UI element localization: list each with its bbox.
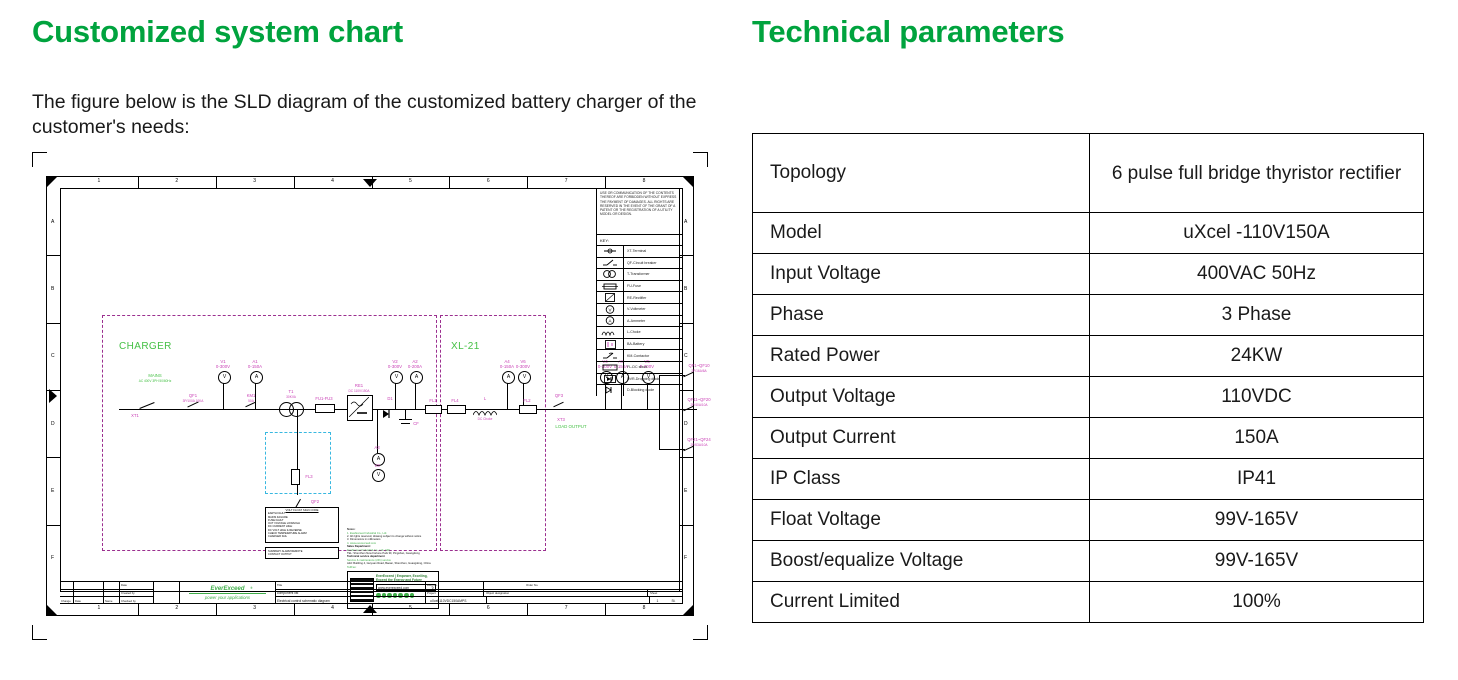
ammeter-icon: A [597, 316, 624, 327]
param-value: 400VAC 50Hz [1090, 254, 1424, 295]
sheet-current: 1 [657, 599, 659, 603]
param-name: Rated Power [753, 336, 1090, 377]
table-row: IP Class IP41 [753, 459, 1424, 500]
page-title-customized-system-chart: Customized system chart [32, 14, 403, 50]
tb-sign-col [154, 582, 180, 604]
device-label-qf-group2: QF11~QF20 [687, 397, 710, 402]
param-name: Float Voltage [753, 500, 1090, 541]
device-desc-qf-group1: 2P/16A/6A [691, 369, 706, 374]
column-number: 7 [565, 605, 568, 611]
tb-value-object-designation [487, 597, 650, 604]
corner-marker-bottom-right [683, 605, 693, 615]
param-value: 24KW [1090, 336, 1424, 377]
tb-label-sheet: Sheet [648, 591, 682, 595]
tb-label-object-designation: Object designation [484, 590, 648, 597]
row-letter: C [51, 353, 55, 359]
fl3-shunt [291, 469, 300, 485]
device-label-qf3: QF3 [555, 393, 563, 398]
legend-text: V-Voltmeter [624, 307, 646, 311]
device-label-fl2: FL2 [523, 398, 530, 403]
row-letter: D [51, 421, 55, 427]
table-row: Phase 3 Phase [753, 295, 1424, 336]
column-number: 7 [565, 178, 568, 184]
param-value: IP41 [1090, 459, 1424, 500]
device-label-qf2: QF2 [311, 499, 319, 504]
column-tick [294, 604, 295, 615]
sld-schematic-drawing: 12345678 12345678 ABCDEF ABCDEF CHARGER … [32, 152, 708, 640]
param-value: 110VDC [1090, 377, 1424, 418]
v1-lead [223, 381, 224, 409]
cf-lead [405, 409, 406, 419]
corner-marker-bottom-left [47, 605, 57, 615]
legend-text: FL-DC shunt [624, 365, 647, 369]
qf-group3-wire [659, 449, 685, 450]
tb-value-sheet: 1 St. [650, 599, 682, 603]
legend-text: L-Choke [624, 330, 641, 334]
meter-desc-v2: 0-300V [388, 364, 402, 369]
tb-project-col: Dwg No. Order No. Project Object designa… [426, 582, 683, 604]
legend-key-panel: KEY: XT-Terminal QF-Circuit breaker T-Tr… [596, 235, 683, 396]
re1-diagonal [349, 397, 369, 417]
tb-blank [104, 590, 119, 598]
column-tick [372, 177, 373, 188]
column-tick [449, 177, 450, 188]
crop-mark-top-left [32, 152, 47, 167]
legend-row: A A-Ammeter [597, 316, 683, 328]
tb-project-value-row: uXcel-110VDC150AMPS 1 St. [426, 597, 682, 604]
summary-alarm-output-box: SUMMARY ALARM REMOTE CONTACT OUTPUT [265, 547, 339, 559]
param-name: Current Limited [753, 582, 1090, 623]
svg-text:A: A [608, 319, 611, 324]
tb-revision-col: Change [60, 582, 74, 604]
device-desc-qf-group3: 2P/63A/10A [690, 443, 707, 448]
column-number: 2 [175, 605, 178, 611]
column-number: 6 [487, 605, 490, 611]
device-label-xt3: XT3 [557, 417, 565, 422]
column-number: 1 [98, 178, 101, 184]
tb-createdby-col: Date Created by Checked by [120, 582, 154, 604]
tb-label-order-no: Order No. [484, 583, 682, 587]
param-value: 99V-165V [1090, 541, 1424, 582]
device-desc-l: DC Choke [478, 417, 493, 422]
meter-desc-v6: 0-300V [516, 364, 530, 369]
table-row: Current Limited 100% [753, 582, 1424, 623]
right-column: Technical parameters Topology 6 pulse fu… [740, 0, 1458, 680]
svg-text:V: V [608, 307, 611, 312]
fl1-shunt [425, 405, 442, 414]
device-desc-qf-group2: 2P/40A/10A [690, 403, 707, 408]
meter-v3: V [372, 469, 385, 482]
right-bus-wire [517, 409, 697, 410]
table-row: Float Voltage 99V-165V [753, 500, 1424, 541]
device-desc-km1: 50A [248, 399, 254, 404]
circuit-breaker-icon [597, 258, 624, 269]
meter-a2: A [410, 371, 423, 384]
meter-desc-a4: 0-150A [500, 364, 514, 369]
legend-row: DVR-Dropping diode [597, 374, 683, 386]
legend-row: FU-Fuse [597, 281, 683, 293]
device-label-qf-group1: QF1~QF10 [688, 363, 709, 368]
brand-slogan: power your applications [205, 595, 250, 600]
blocking-diode-icon [597, 385, 624, 396]
column-number: 3 [253, 178, 256, 184]
column-number: 1 [98, 605, 101, 611]
tb-value-project: uXcel-110VDC150AMPS [426, 597, 487, 604]
legend-row: BA-Battery [597, 339, 683, 351]
a4-lead [507, 381, 508, 409]
legend-row: XT-Terminal [597, 246, 683, 258]
registered-trademark-icon: ® [250, 586, 252, 590]
param-name: Output Current [753, 418, 1090, 459]
device-desc-qf1: 3P/100A 10KA [183, 399, 204, 404]
param-name: Model [753, 213, 1090, 254]
row-letter: C [684, 353, 688, 359]
crop-mark-top-right [693, 152, 708, 167]
tb-project-label-row: Project Object designation Sheet [426, 590, 682, 598]
meter-desc-v1: 0-300V [216, 364, 230, 369]
column-tick [605, 604, 606, 615]
tb-label-change: Change [60, 597, 73, 604]
table-row: Input Voltage 400VAC 50Hz [753, 254, 1424, 295]
meter-v1: V [218, 371, 231, 384]
legend-title: KEY: [597, 235, 683, 246]
tb-label-name: Name [104, 597, 119, 604]
corner-marker-top-left [47, 177, 57, 187]
row-letter: A [684, 219, 687, 225]
row-tick [47, 457, 60, 458]
device-label-mains: MAINS [148, 373, 161, 378]
row-tick [47, 323, 60, 324]
contactor-icon [597, 350, 624, 361]
legend-text: XT-Terminal [624, 249, 646, 253]
legend-row: T-Transformer [597, 269, 683, 281]
param-value: uXcel -110V150A [1090, 213, 1424, 254]
tb-label-date: Date [74, 597, 103, 604]
corner-marker-top-right [683, 177, 693, 187]
column-tick [449, 604, 450, 615]
column-tick [138, 177, 139, 188]
param-name: Output Voltage [753, 377, 1090, 418]
d1-diode [383, 405, 392, 423]
legend-text: DVR-Dropping diode [624, 377, 660, 381]
technical-parameters-table: Topology 6 pulse full bridge thyristor r… [752, 133, 1424, 623]
tb-title-col: Title component list Electrical control … [276, 582, 426, 604]
row-letter: A [51, 219, 54, 225]
param-name: Input Voltage [753, 254, 1090, 295]
row-tick [47, 255, 60, 256]
alarm-line-7: CHARGER FAIL [268, 535, 336, 538]
intro-paragraph: The figure below is the SLD diagram of t… [32, 90, 722, 140]
transformer-icon [597, 269, 624, 280]
device-label-fl1: FL1 [429, 398, 436, 403]
alarm-signal-list-box: VOLT FLOAT SIGN CODE EARTH FAULT MAINS F… [265, 507, 339, 543]
legend-text: BA-Battery [624, 342, 644, 346]
fu1-fu3-fuse [315, 404, 335, 413]
crop-mark-bottom-left [32, 625, 47, 640]
load-output-label: LOAD OUTPUT [555, 424, 586, 429]
column-number: 4 [331, 178, 334, 184]
param-value: 99V-165V [1090, 500, 1424, 541]
legend-row: QF-Circuit breaker [597, 258, 683, 270]
tb-label-project: Project [426, 590, 484, 597]
meter-v6: V [518, 371, 531, 384]
battery-icon [597, 339, 624, 350]
legal-notice-text: USE OR COMMUNICATION OF THE CONTENTS THE… [596, 188, 683, 235]
device-label-fu: FU1-FU3 [315, 396, 332, 401]
tb-dwg-order-row: Dwg No. Order No. [426, 582, 682, 590]
column-number: 6 [487, 178, 490, 184]
device-label-fl4: FL4 [451, 398, 458, 403]
device-desc-mains: AC 400V 3PH 50/60Hz [139, 379, 172, 384]
row-letter: E [684, 488, 687, 494]
row-letter: F [51, 555, 54, 561]
column-number: 8 [643, 605, 646, 611]
tb-blank [74, 582, 103, 590]
shunt-icon [597, 362, 624, 373]
device-label-qf-group3: QF21~QF24 [687, 437, 710, 442]
device-label-t1: T1 [289, 389, 294, 394]
device-desc-re1: DC 110V/150A [348, 389, 369, 394]
terminal-icon [597, 246, 624, 257]
meter-label-v3: V3 [374, 463, 379, 468]
legend-row: RE-Rectifier [597, 292, 683, 304]
tb-value-title-2: Electrical control schematic diagram [276, 597, 425, 604]
tb-blank [60, 582, 73, 590]
brand-name: EverExceed ® [210, 586, 244, 592]
tb-label-checked-by: Checked by [120, 597, 153, 604]
meter-desc-a2: 0-200A [408, 364, 422, 369]
table-row: Output Voltage 110VDC [753, 377, 1424, 418]
cf-plate1 [399, 419, 412, 420]
legend-text: KM-Contactor [624, 354, 649, 358]
page-title-technical-parameters: Technical parameters [752, 14, 1064, 50]
brand-name-text: EverExceed [210, 586, 244, 592]
legend-text: FU-Fuse [624, 284, 641, 288]
column-tick [216, 604, 217, 615]
param-value: 6 pulse full bridge thyristor rectifier [1090, 134, 1424, 213]
legend-text: A-Ammeter [624, 319, 645, 323]
column-tick [527, 604, 528, 615]
device-label-cf: CF [413, 421, 419, 426]
column-number: 3 [253, 605, 256, 611]
device-label-qf1: QF1 [189, 393, 197, 398]
device-label-re1: RE1 [355, 383, 363, 388]
cf-plate2 [401, 423, 410, 424]
table-row: Rated Power 24KW [753, 336, 1424, 377]
row-letter: E [51, 488, 54, 494]
param-name: IP Class [753, 459, 1090, 500]
row-ruler-left: ABCDEF [47, 188, 61, 592]
a1-lead [255, 381, 256, 409]
param-value: 150A [1090, 418, 1424, 459]
drawing-title-block: Change Date Name [60, 581, 683, 604]
sheet-total: St. [671, 599, 675, 603]
tb-name-col: Name [104, 582, 120, 604]
meter-a4: A [502, 371, 515, 384]
device-label-d1: D1 [387, 396, 392, 401]
column-tick [605, 177, 606, 188]
table-row: Output Current 150A [753, 418, 1424, 459]
drawing-sheet-frame: 12345678 12345678 ABCDEF ABCDEF CHARGER … [46, 176, 694, 616]
legend-text: QF-Circuit breaker [624, 261, 657, 265]
v2-lead [395, 381, 396, 409]
param-name: Topology [753, 134, 1090, 213]
fl2-shunt [519, 405, 537, 414]
column-number: 8 [643, 178, 646, 184]
fuse-icon [597, 281, 624, 292]
tb-date-col: Date [74, 582, 104, 604]
brand-logo: EverExceed ® power your applications [180, 582, 276, 604]
legend-row: FL-DC shunt [597, 362, 683, 374]
column-tick [216, 177, 217, 188]
column-number: 4 [331, 605, 334, 611]
a2-lead [415, 381, 416, 409]
notes-line-10: Add: Building 4, Guiyuan Road, Baoan, Sh… [347, 562, 439, 565]
row-letter: F [684, 555, 687, 561]
legend-row: L-Choke [597, 327, 683, 339]
meter-v2: V [390, 371, 403, 384]
tb-label-dwg-no: Dwg No. [426, 582, 484, 589]
table-row: Boost/equalize Voltage 99V-165V [753, 541, 1424, 582]
param-value: 3 Phase [1090, 295, 1424, 336]
tb-blank [104, 582, 119, 590]
meter-desc-a1: 0-150A [248, 364, 262, 369]
left-column: Customized system chart The figure below… [0, 0, 740, 680]
legend-row: KM-Contactor [597, 350, 683, 362]
meter-label-a3: A3 [374, 445, 379, 450]
column-number: 5 [409, 178, 412, 184]
voltmeter-icon: V [597, 304, 624, 315]
tb-value-title-1: component list [276, 590, 425, 598]
row-letter: B [684, 286, 687, 292]
row-letter: D [684, 421, 688, 427]
param-value: 100% [1090, 582, 1424, 623]
tb-label-title: Title [276, 582, 425, 590]
device-label-fl3: FL3 [305, 474, 312, 479]
fl4-shunt [447, 405, 466, 414]
legend-row: D-Blocking diode [597, 385, 683, 396]
column-number: 2 [175, 178, 178, 184]
tb-blank [60, 590, 73, 598]
column-tick [527, 177, 528, 188]
column-tick [138, 604, 139, 615]
zone-label-xl21: XL-21 [451, 341, 480, 352]
row-tick [47, 525, 60, 526]
meter-a1: A [250, 371, 263, 384]
tb-label-created-by: Created by [120, 590, 153, 598]
drawing-notes-block: Notes: 1. EverExceed Industrial Co., Ltd… [347, 528, 439, 569]
param-name: Phase [753, 295, 1090, 336]
row-letter: B [51, 286, 54, 292]
legend-text: RE-Rectifier [624, 296, 646, 300]
device-desc-t1: 30KVA [286, 395, 296, 400]
device-label-l: L [484, 396, 486, 401]
summary-alarm-line-1: CONTACT OUTPUT [268, 553, 336, 556]
choke-icon [597, 327, 624, 338]
table-row: Model uXcel -110V150A [753, 213, 1424, 254]
legend-row: V V-Voltmeter [597, 304, 683, 316]
tb-blank [74, 590, 103, 598]
table-row: Topology 6 pulse full bridge thyristor r… [753, 134, 1424, 213]
brand-divider [189, 593, 267, 594]
zone-label-charger: CHARGER [119, 341, 172, 352]
device-label-xt1: XT1 [131, 413, 139, 418]
legend-text: D-Blocking diode [624, 388, 654, 392]
param-name: Boost/equalize Voltage [753, 541, 1090, 582]
dropping-diode-icon [597, 374, 624, 385]
tb-label-date2: Date [120, 582, 153, 590]
rectifier-icon [597, 292, 624, 303]
legend-text: T-Transformer [624, 272, 650, 276]
notes-line-11: Tel/Fax: [347, 566, 439, 569]
column-tick [294, 177, 295, 188]
crop-mark-bottom-right [693, 625, 708, 640]
row-tick [47, 390, 60, 391]
